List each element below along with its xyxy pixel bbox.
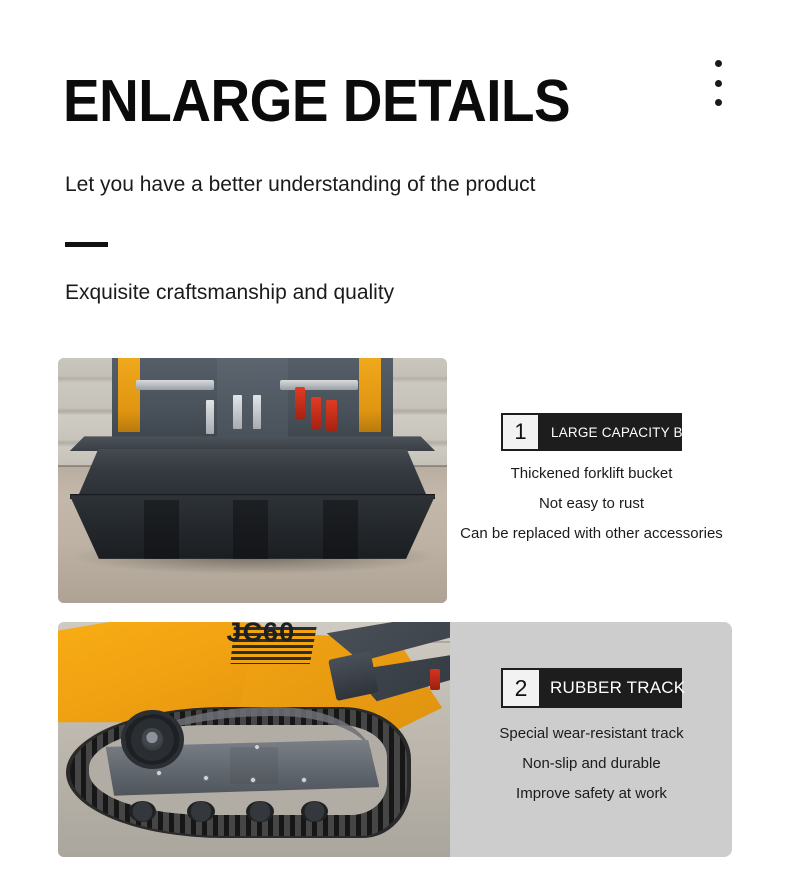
hydraulic-cylinder-3 [206, 400, 215, 434]
track-roller [301, 801, 328, 822]
feature-number-1: 1 [503, 415, 538, 449]
hydraulic-cylinder-2 [253, 395, 262, 429]
track-roller [129, 801, 156, 822]
right-lift-arm [359, 358, 380, 432]
bucket-rib-2 [233, 500, 268, 559]
feature-bullet: Special wear-resistant track [450, 726, 733, 741]
bucket-rib-3 [323, 500, 358, 559]
feature-number-2: 2 [503, 670, 539, 706]
feature-badge-1: 1 LARGE CAPACITY BUCKET [501, 413, 682, 451]
feature-bullets-2: Special wear-resistant track Non-slip an… [450, 726, 733, 816]
kebab-menu-icon[interactable] [711, 60, 725, 106]
hydraulic-cylinder-1 [233, 395, 242, 429]
red-hydraulic-fitting-2 [311, 397, 321, 429]
machine-model-text: JC60 [227, 622, 296, 648]
page-tagline: Exquisite craftsmanship and quality [65, 281, 394, 305]
track-photo[interactable]: JC60 [58, 622, 450, 857]
page-title: ENLARGE DETAILS [63, 72, 570, 131]
kebab-dot-3 [715, 99, 722, 106]
drive-sprocket-hub [142, 728, 162, 747]
track-roller [187, 801, 214, 822]
feature-bullet: Non-slip and durable [450, 756, 733, 771]
bucket-photo[interactable] [58, 358, 447, 603]
frame-bolt [203, 775, 209, 781]
red-hydraulic-fitting-3 [326, 400, 336, 432]
track-photo-scene: JC60 [58, 622, 450, 857]
bucket-rib-1 [144, 500, 179, 559]
frame-bolt [156, 770, 162, 776]
bucket-interior [77, 449, 427, 498]
red-hydraulic-fitting-1 [295, 387, 305, 419]
title-divider [65, 242, 108, 247]
feature-bullet: Can be replaced with other accessories [450, 526, 733, 541]
kebab-dot-2 [715, 80, 722, 87]
bucket-photo-scene [58, 358, 447, 603]
feature-bullet: Improve safety at work [450, 786, 733, 801]
page-subtitle: Let you have a better understanding of t… [65, 173, 536, 197]
red-hose-fitting [430, 669, 440, 690]
left-lift-arm [118, 358, 139, 432]
right-hydraulic-bar [280, 380, 358, 390]
feature-bullet: Thickened forklift bucket [450, 466, 733, 481]
feature-badge-2: 2 RUBBER TRACK [501, 668, 682, 708]
feature-label-1: LARGE CAPACITY BUCKET [551, 425, 730, 440]
kebab-dot-1 [715, 60, 722, 67]
left-hydraulic-bar [136, 380, 214, 390]
track-roller [246, 801, 273, 822]
feature-bullets-1: Thickened forklift bucket Not easy to ru… [450, 466, 733, 556]
feature-label-2: RUBBER TRACK [550, 678, 685, 698]
feature-bullet: Not easy to rust [450, 496, 733, 511]
